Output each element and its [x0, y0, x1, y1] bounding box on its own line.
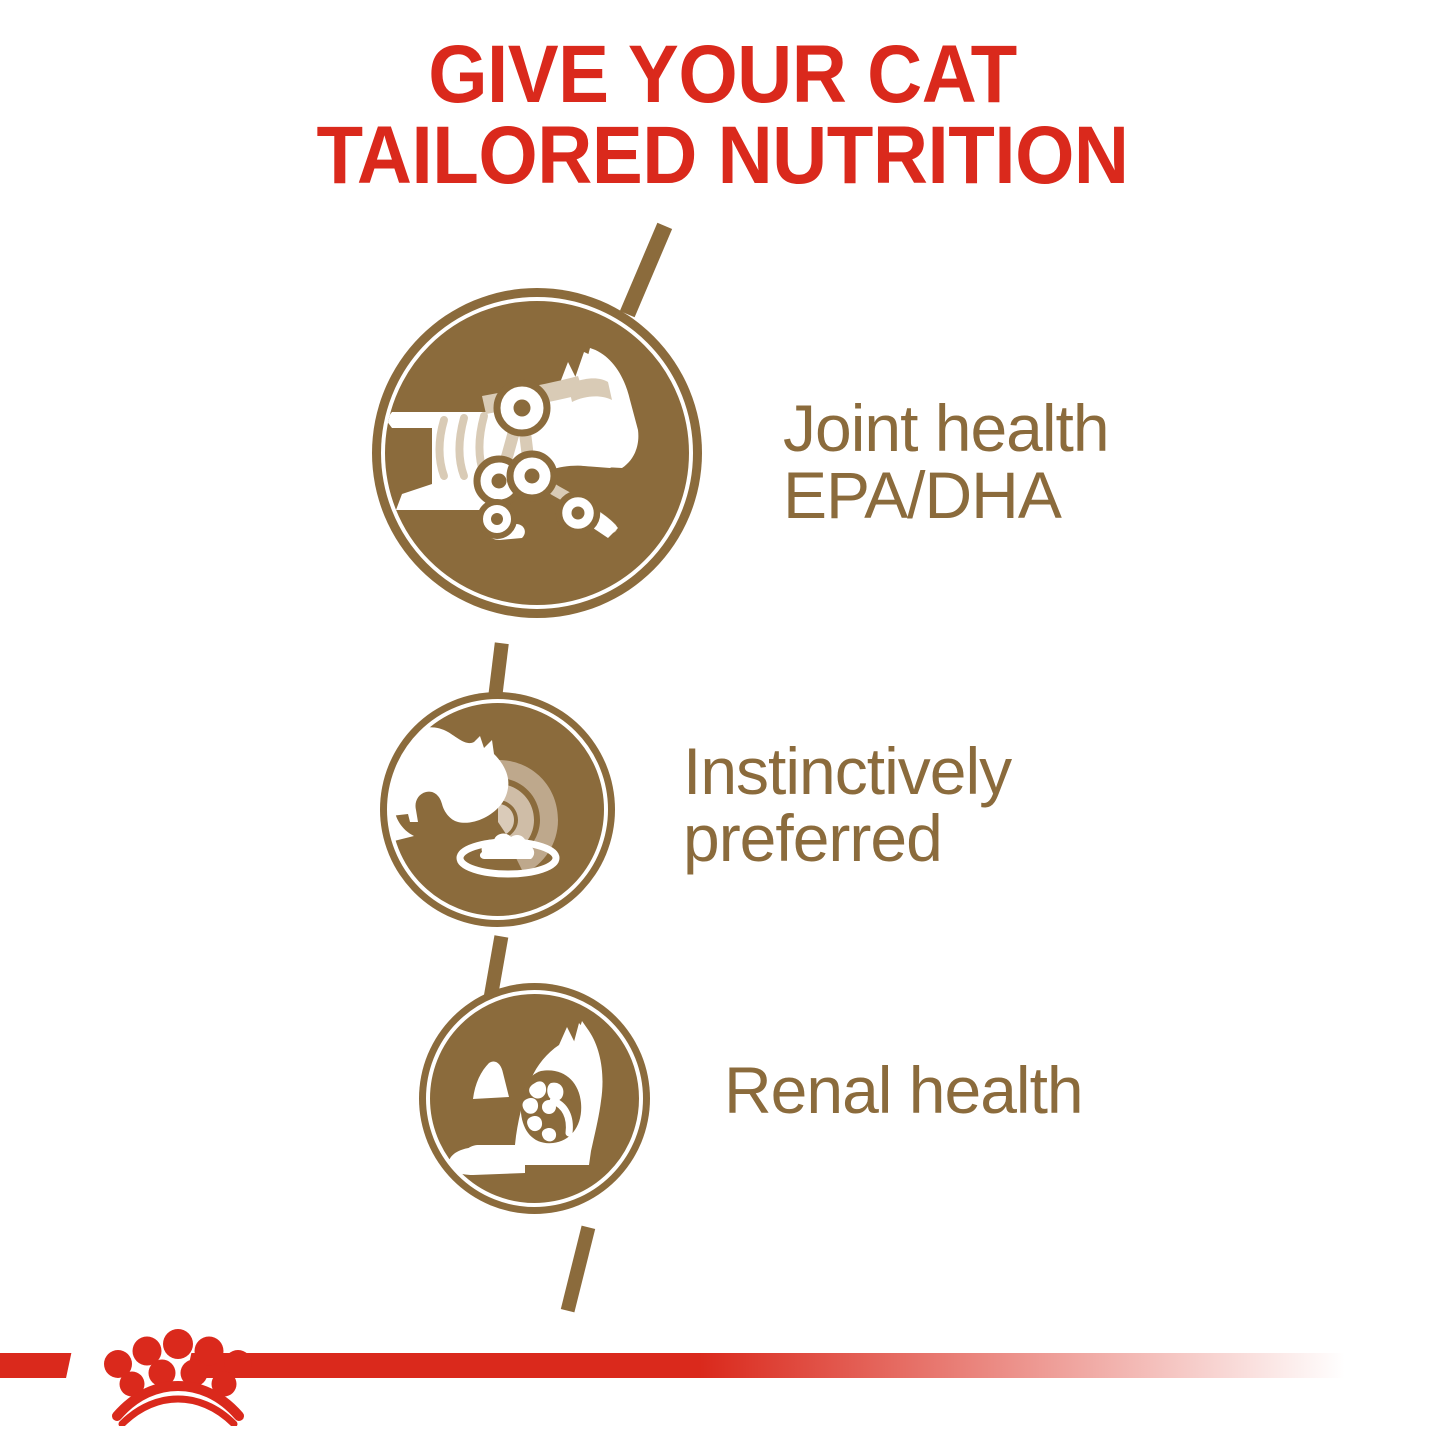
feature-label-line-1: Renal health	[724, 1057, 1083, 1124]
cat-eating-glyph	[380, 692, 615, 927]
infographic-page: GIVE YOUR CAT TAILORED NUTRITION	[0, 0, 1445, 1445]
feature-label-joint-health: Joint health EPA/DHA	[783, 395, 1109, 530]
feature-label-renal-health: Renal health	[724, 1057, 1083, 1124]
feature-label-instinctively-preferred: Instinctively preferred	[683, 738, 1011, 873]
cat-skeleton-glyph	[372, 288, 702, 618]
feature-label-line-2: EPA/DHA	[783, 462, 1109, 529]
feature-label-line-2: preferred	[683, 805, 1011, 872]
page-title-line-2: TAILORED NUTRITION	[51, 115, 1395, 196]
royal-canin-crown-logo	[96, 1326, 261, 1426]
cat-kidney-glyph	[419, 983, 650, 1214]
cat-kidney-icon	[419, 983, 650, 1214]
cat-eating-bowl-icon	[380, 692, 615, 927]
page-title: GIVE YOUR CAT TAILORED NUTRITION	[51, 34, 1395, 196]
feature-label-line-1: Joint health	[783, 395, 1109, 462]
page-title-line-1: GIVE YOUR CAT	[51, 34, 1395, 115]
crown-glyph	[96, 1326, 261, 1426]
cat-skeleton-joints-icon	[372, 288, 702, 618]
connector-dash-bottom	[561, 1226, 595, 1313]
feature-label-line-1: Instinctively	[683, 738, 1011, 805]
